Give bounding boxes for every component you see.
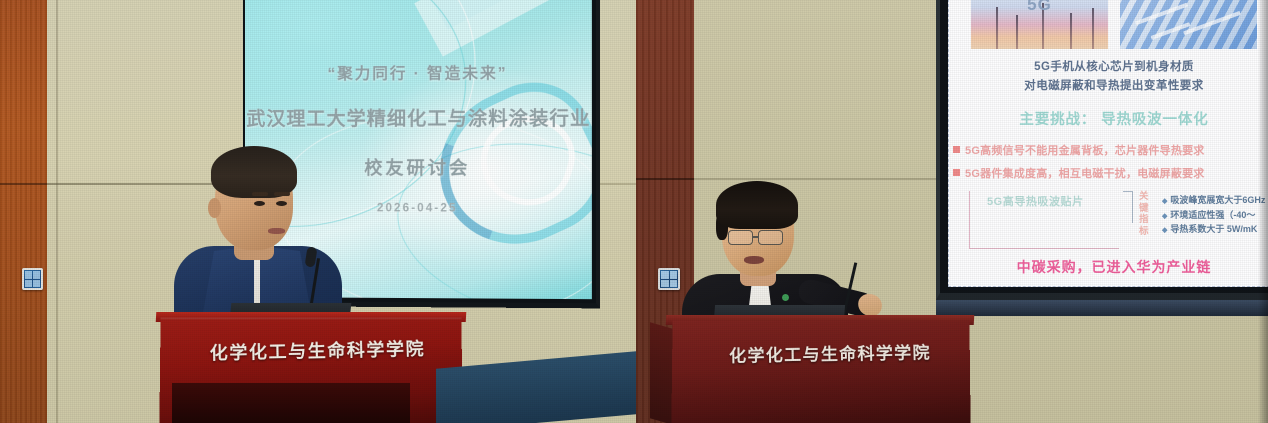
left-wood-seam	[0, 183, 47, 185]
slide-lead-line-1: 5G手机从核心芯片到机身材质	[949, 58, 1268, 74]
slide-key-metrics-list: 吸波峰宽展宽大于6GHz 环境适应性强（-40～ 导热系数大于 5W/mK	[1162, 193, 1265, 237]
right-podium: 化学化工与生命科学学院	[671, 320, 970, 423]
right-screen-bottom-bar	[936, 300, 1268, 316]
key-metric-item: 吸波峰宽展宽大于6GHz	[1162, 193, 1265, 208]
right-podium-label: 化学化工与生命科学学院	[714, 338, 946, 367]
left-podium-base-shadow	[172, 383, 410, 423]
slide-image-row: 5G	[949, 0, 1268, 49]
slide-footer-line: 中碳采购，已进入华为产业链	[949, 257, 1268, 277]
slide-lead-line-2: 对电磁屏蔽和导热提出变革性要求	[949, 77, 1268, 93]
slide-bullet-2: 5G器件集成度高，相互电磁干扰，电磁屏蔽要求	[965, 165, 1268, 181]
key-metric-item: 环境适应性强（-40～	[1162, 208, 1265, 223]
left-speaker-hair	[211, 146, 297, 198]
slide-challenge-heading: 主要挑战： 导热吸波一体化	[949, 108, 1268, 129]
left-speaker-brow	[252, 192, 268, 196]
glasses-icon	[758, 230, 783, 245]
right-speaker-lapel-pin	[782, 294, 789, 301]
key-metric-item: 导热系数大于 5W/mK	[1162, 222, 1265, 237]
left-speaker-ear	[208, 198, 221, 218]
right-photo-panel: 5G 5G手机从核心芯片到机身材质 对电磁屏蔽和导热提出变革性要求 主要挑战： …	[636, 0, 1268, 423]
right-projection-screen: 5G 5G手机从核心芯片到机身材质 对电磁屏蔽和导热提出变革性要求 主要挑战： …	[936, 0, 1268, 300]
left-photo-panel: “聚力同行 · 智造未来” 武汉理工大学精细化工与涂料涂装行业 校友研讨会 20…	[0, 0, 636, 423]
slide-key-metrics-label: 关键指标	[1139, 191, 1151, 237]
slide-slogan: “聚力同行 · 智造未来”	[245, 61, 592, 84]
right-slide-content: 5G 5G手机从核心芯片到机身材质 对电磁屏蔽和导热提出变革性要求 主要挑战： …	[948, 0, 1268, 287]
slide-bullet-1: 5G高频信号不能用金属背板，芯片器件导热要求	[965, 142, 1268, 158]
left-speaker-eye	[276, 201, 287, 206]
right-wood-seam	[636, 178, 694, 180]
right-speaker-hair	[716, 181, 798, 229]
left-speaker-mouth	[268, 228, 285, 234]
slide-product-label: 5G高导热吸波贴片	[987, 193, 1084, 209]
left-podium-label: 化学化工与生命科学学院	[190, 334, 445, 365]
left-wall-switch-plate	[22, 268, 43, 290]
photo-pair-stage: “聚力同行 · 智造未来” 武汉理工大学精细化工与涂料涂装行业 校友研讨会 20…	[0, 0, 1268, 423]
slide-bracket	[1123, 191, 1133, 223]
slide-title: 武汉理工大学精细化工与涂料涂装行业	[245, 103, 592, 131]
glasses-icon	[728, 230, 753, 245]
5g-tower-photo: 5G	[971, 0, 1108, 49]
glasses-bridge	[753, 236, 759, 238]
5g-photo-caption: 5G	[971, 0, 1108, 15]
right-speaker-mouth	[744, 256, 764, 264]
switch-face-icon	[660, 270, 678, 288]
circuit-board-photo	[1120, 0, 1257, 49]
left-wall-vertical-seam	[56, 0, 58, 423]
left-speaker-eye	[254, 201, 265, 206]
right-wall-switch-plate	[658, 268, 680, 290]
switch-face-icon	[24, 270, 41, 288]
left-speaker-brow	[274, 192, 290, 196]
left-wood-panel	[0, 0, 47, 423]
right-edge-shadow	[1258, 0, 1268, 423]
